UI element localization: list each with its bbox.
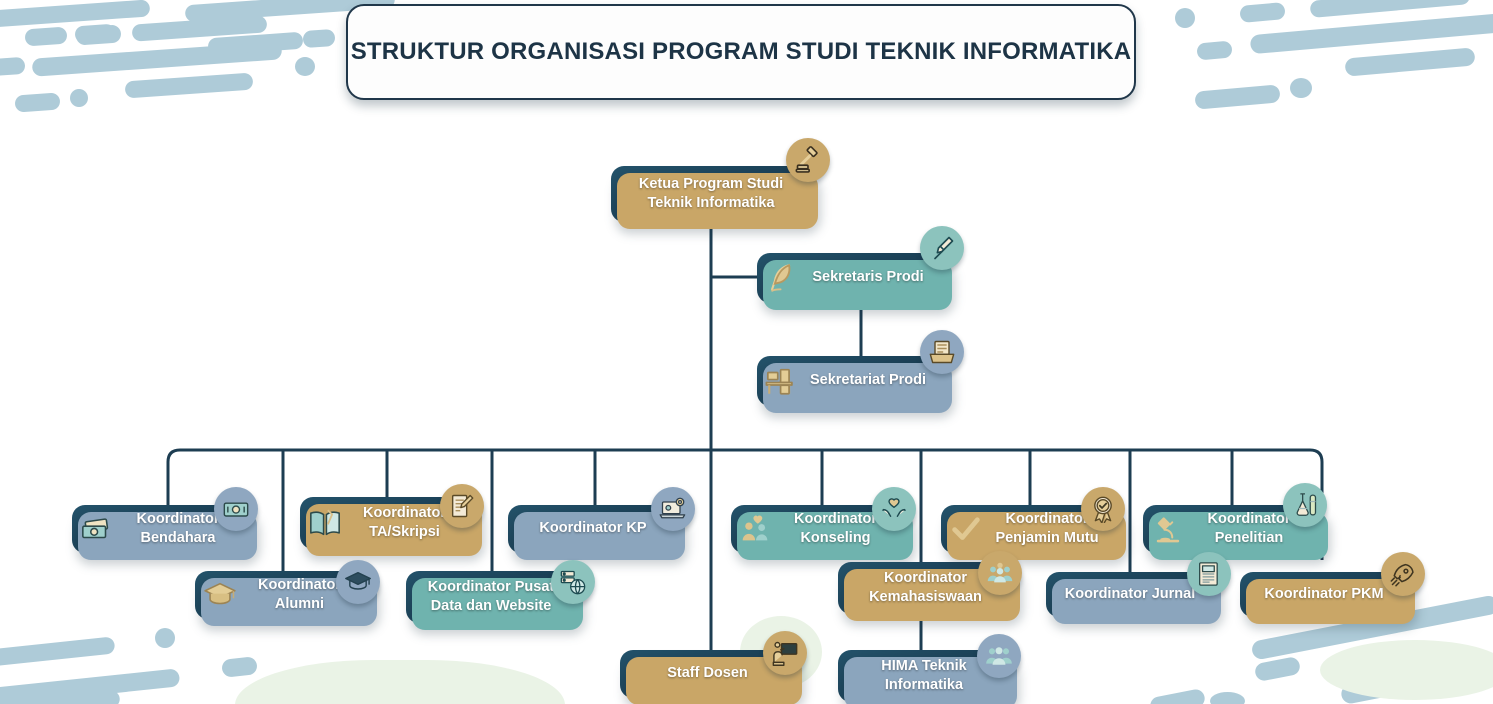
checkmark-icon (948, 511, 984, 547)
document-pencil-icon (440, 484, 484, 528)
fountain-pen-icon (920, 226, 964, 270)
open-book-icon (307, 505, 343, 541)
page-title: STRUKTUR ORGANISASI PROGRAM STUDI TEKNIK… (346, 4, 1136, 100)
money-stack-icon (79, 511, 115, 547)
laptop-gear-icon (651, 487, 695, 531)
office-desk-icon (764, 363, 800, 399)
newspaper-icon (1187, 552, 1231, 596)
graduation-cap-icon (202, 577, 238, 613)
banknote-icon (214, 487, 258, 531)
user-group-icon (978, 551, 1022, 595)
page-title-text: STRUKTUR ORGANISASI PROGRAM STUDI TEKNIK… (351, 38, 1132, 66)
org-chart-canvas: STRUKTUR ORGANISASI PROGRAM STUDI TEKNIK… (0, 0, 1493, 704)
server-globe-icon (551, 560, 595, 604)
node-sekretariat-prodi[interactable]: Sekretariat Prodi (757, 356, 945, 406)
teaching-board-icon (763, 631, 807, 675)
gavel-icon (786, 138, 830, 182)
node-label: Koordinator PKM (1240, 585, 1408, 604)
graduation-cap-icon (336, 560, 380, 604)
node-label: Koordinator Jurnal (1046, 585, 1214, 604)
microscope-icon (1150, 511, 1186, 547)
quill-icon (764, 260, 800, 296)
node-label: Ketua Program Studi Teknik Informatika (611, 175, 811, 213)
user-group-icon (977, 634, 1021, 678)
caring-hands-icon (872, 487, 916, 531)
rocket-icon (1381, 552, 1425, 596)
people-heart-icon (738, 511, 774, 547)
node-ketua-program-studi[interactable]: Ketua Program Studi Teknik Informatika (611, 166, 811, 222)
award-ribbon-icon (1081, 487, 1125, 531)
node-sekretaris-prodi[interactable]: Sekretaris Prodi (757, 253, 945, 303)
lab-flask-icon (1283, 483, 1327, 527)
node-label: Koordinator KP (508, 519, 678, 538)
documents-icon (920, 330, 964, 374)
